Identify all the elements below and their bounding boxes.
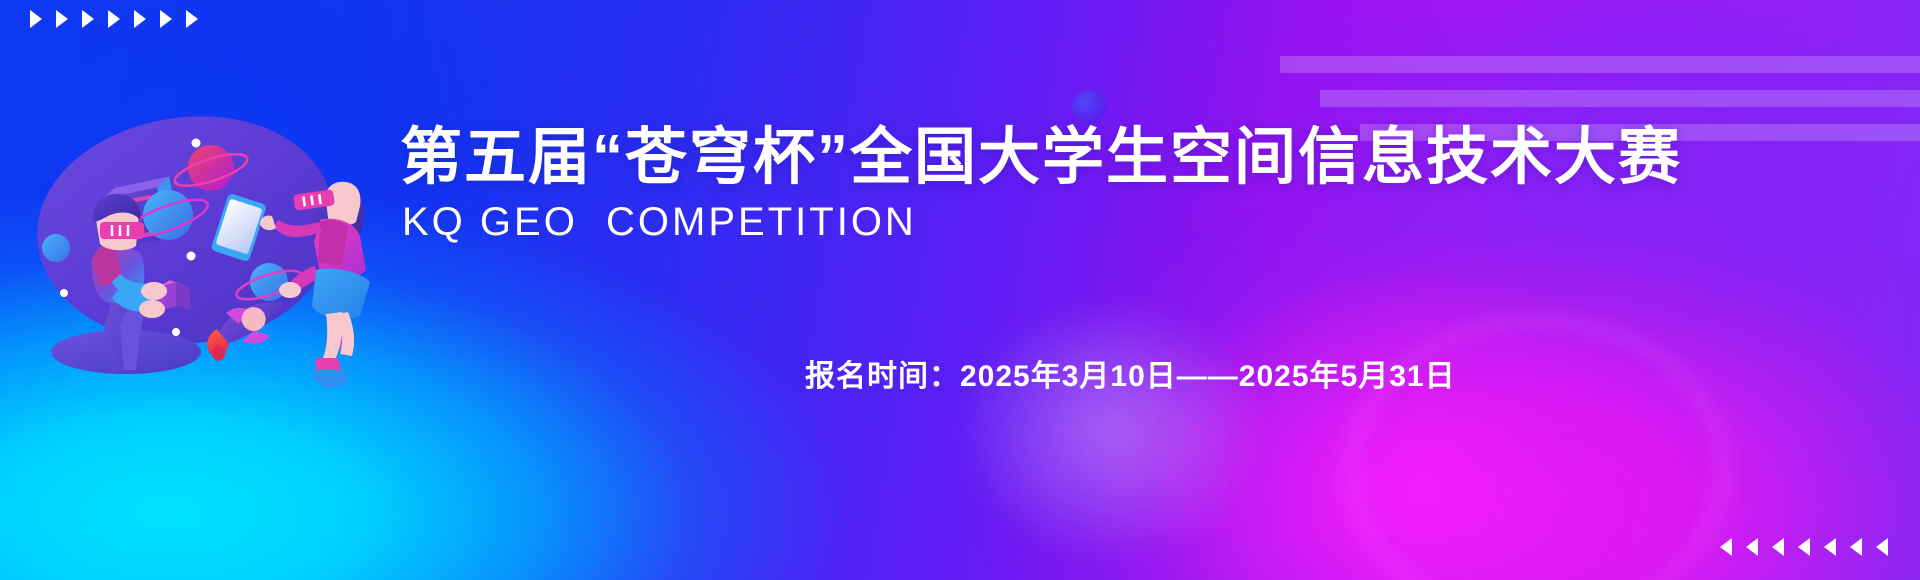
play-arrow-icon [108, 10, 120, 28]
banner-subtitle: KQ GEO COMPETITION [402, 202, 917, 242]
play-arrow-icon [82, 10, 94, 28]
banner-text-content: 第五届“苍穹杯”全国大学生空间信息技术大赛 KQ GEO COMPETITION… [400, 0, 1900, 580]
play-arrow-icon [160, 10, 172, 28]
page-title: 第五届“苍穹杯”全国大学生空间信息技术大赛 [400, 127, 1682, 189]
play-arrow-icon [56, 10, 68, 28]
competition-banner: 第五届“苍穹杯”全国大学生空间信息技术大赛 KQ GEO COMPETITION… [0, 0, 1920, 580]
small-blue-planet [42, 234, 70, 262]
play-arrow-icon [134, 10, 146, 28]
play-arrow-icon [30, 10, 42, 28]
vr-space-illustration [8, 70, 358, 390]
play-arrow-icon [186, 10, 198, 28]
arrow-row-top-left [30, 10, 198, 28]
registration-period: 报名时间：2025年3月10日——2025年5月31日 [805, 362, 1456, 392]
